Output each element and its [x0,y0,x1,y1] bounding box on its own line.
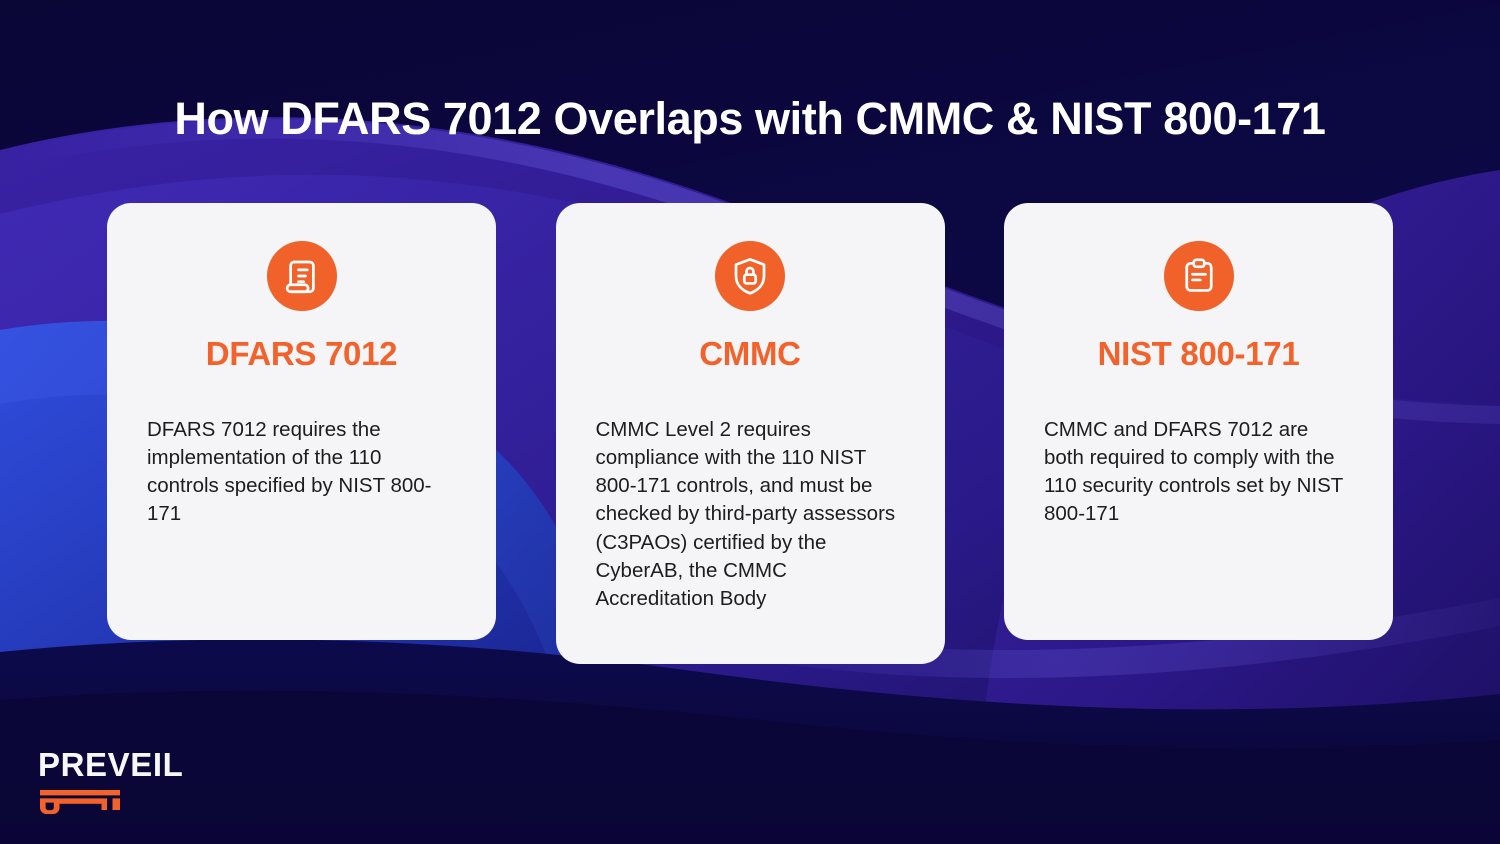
card-heading: CMMC [699,335,800,373]
card-heading: NIST 800-171 [1098,335,1300,373]
page-title: How DFARS 7012 Overlaps with CMMC & NIST… [0,94,1500,144]
document-icon [267,241,337,311]
card-body: DFARS 7012 requires the implementation o… [147,416,456,529]
key-icon [38,788,122,820]
card-dfars-7012[interactable]: DFARS 7012 DFARS 7012 requires the imple… [107,203,496,640]
slide-canvas: How DFARS 7012 Overlaps with CMMC & NIST… [0,0,1500,844]
card-body: CMMC Level 2 requires compliance with th… [596,416,905,614]
preveil-logo[interactable]: PREVEIL [38,748,208,820]
shield-lock-icon [715,241,785,311]
card-cmmc[interactable]: CMMC CMMC Level 2 requires compliance wi… [556,203,945,664]
card-row: DFARS 7012 DFARS 7012 requires the imple… [107,203,1393,664]
card-body: CMMC and DFARS 7012 are both required to… [1044,416,1353,529]
card-heading: DFARS 7012 [206,335,397,373]
logo-wordmark: PREVEIL [38,748,208,781]
clipboard-icon [1164,241,1234,311]
card-nist-800-171[interactable]: NIST 800-171 CMMC and DFARS 7012 are bot… [1004,203,1393,640]
